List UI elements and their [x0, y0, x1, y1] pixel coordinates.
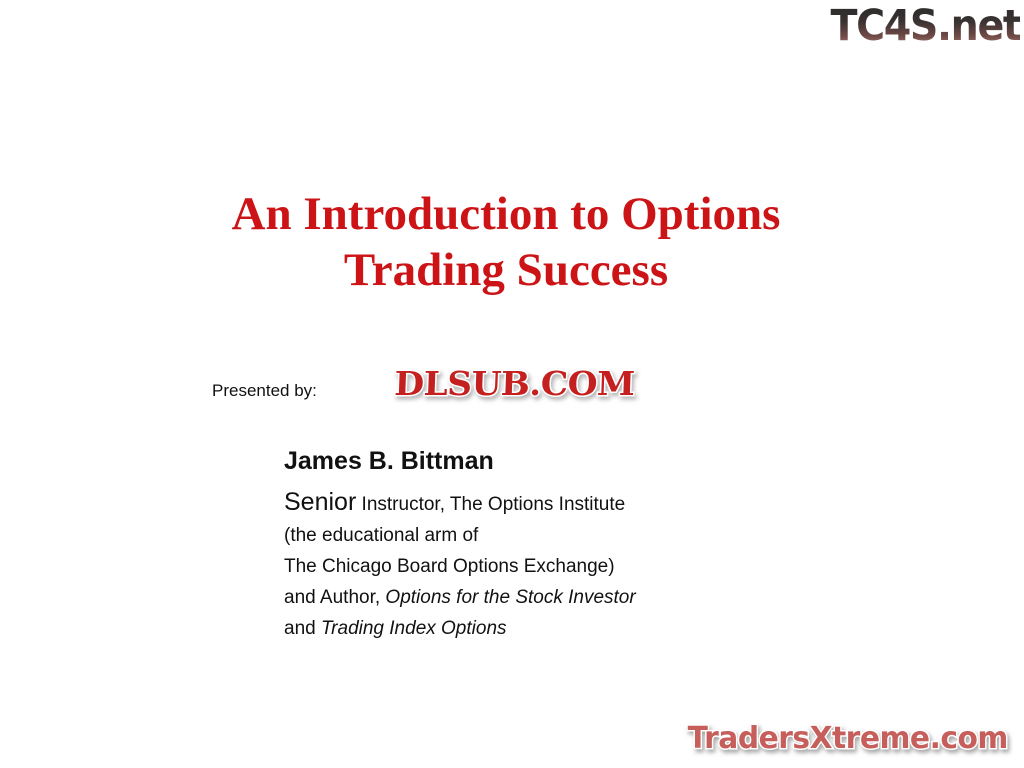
author-prefix: and Author,	[284, 587, 385, 608]
dlsub-logo-text: DLSUB.COM	[393, 367, 634, 400]
book-title-1: Options for the Stock Investor	[385, 587, 635, 608]
tc4s-watermark: TC4S.net	[818, 0, 1024, 52]
presenter-affiliation-line-2: The Chicago Board Options Exchange)	[284, 551, 904, 582]
tc4s-watermark-text: TC4S.net	[830, 5, 1020, 48]
tradersxtreme-watermark: TradersXtreme.com	[672, 716, 1024, 762]
presented-by-row: Presented by:	[212, 380, 317, 402]
presenter-name: James B. Bittman	[284, 444, 904, 478]
tradersxtreme-watermark-text: TradersXtreme.com	[688, 724, 1008, 754]
book-2-prefix: and	[284, 618, 321, 639]
presenter-author-line-2: and Trading Index Options	[284, 613, 904, 644]
presenter-author-line-1: and Author, Options for the Stock Invest…	[284, 582, 904, 613]
presented-by-label: Presented by:	[212, 380, 317, 402]
page-title: An Introduction to Options Trading Succe…	[0, 186, 1024, 298]
presenter-role-line: Senior Instructor, The Options Institute	[284, 487, 904, 520]
title-line-2: Trading Success	[0, 242, 1024, 298]
title-line-1: An Introduction to Options	[0, 186, 1024, 242]
presenter-role-rest: Instructor, The Options Institute	[356, 494, 625, 515]
presentation-slide: TC4S.net An Introduction to Options Trad…	[0, 0, 1024, 768]
book-title-2: Trading Index Options	[321, 618, 507, 639]
presenter-affiliation-line-1: (the educational arm of	[284, 520, 904, 551]
presenter-bio: James B. Bittman Senior Instructor, The …	[284, 444, 904, 644]
presenter-role-lead: Senior	[284, 488, 356, 516]
dlsub-logo-watermark: DLSUB.COM	[366, 362, 662, 404]
